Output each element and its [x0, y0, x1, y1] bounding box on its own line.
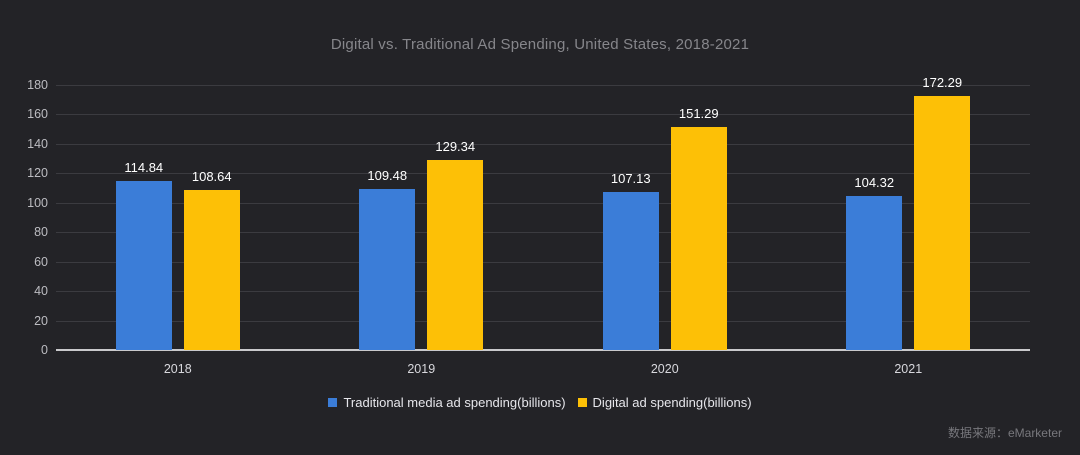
- legend-label: Traditional media ad spending(billions): [343, 395, 565, 410]
- x-axis-tick-label: 2018: [164, 362, 192, 376]
- chart-legend: Traditional media ad spending(billions)D…: [0, 395, 1080, 410]
- x-axis-tick-label: 2019: [407, 362, 435, 376]
- y-axis-tick-label: 40: [4, 284, 48, 298]
- y-axis-tick-label: 60: [4, 255, 48, 269]
- y-axis-tick-label: 120: [4, 166, 48, 180]
- legend-item[interactable]: Digital ad spending(billions): [578, 395, 752, 410]
- source-note: 数据来源：eMarketer: [948, 424, 1062, 441]
- y-axis-tick-label: 180: [4, 78, 48, 92]
- legend-swatch-icon: [328, 398, 337, 407]
- x-axis-tick-label: 2020: [651, 362, 679, 376]
- chart-container: Digital vs. Traditional Ad Spending, Uni…: [0, 0, 1080, 455]
- legend-swatch-icon: [578, 398, 587, 407]
- x-axis-tick-label: 2021: [894, 362, 922, 376]
- chart-title: Digital vs. Traditional Ad Spending, Uni…: [0, 36, 1080, 53]
- y-axis-tick-label: 100: [4, 196, 48, 210]
- legend-item[interactable]: Traditional media ad spending(billions): [328, 395, 565, 410]
- y-axis-tick-label: 140: [4, 137, 48, 151]
- y-axis-ticks: 020406080100120140160180: [56, 85, 1030, 350]
- y-axis-tick-label: 20: [4, 314, 48, 328]
- y-axis-tick-label: 160: [4, 107, 48, 121]
- legend-label: Digital ad spending(billions): [593, 395, 752, 410]
- y-axis-tick-label: 0: [4, 343, 48, 357]
- y-axis-tick-label: 80: [4, 225, 48, 239]
